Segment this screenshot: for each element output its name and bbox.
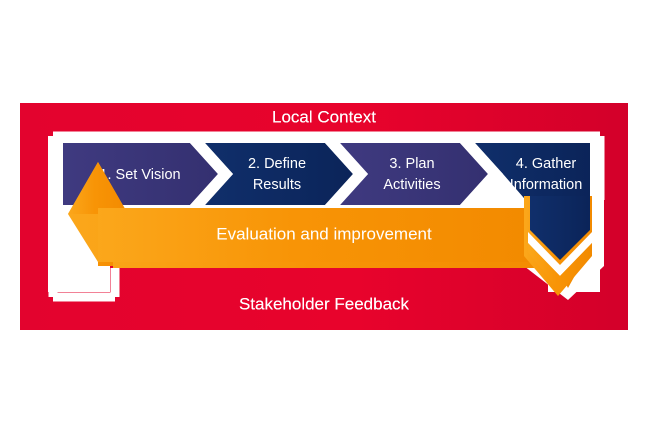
stakeholder-feedback-title-bottom: Stakeholder Feedback (239, 294, 410, 313)
stage-4-label-line1: 4. Gather (516, 156, 577, 172)
stage-4-label-line2: Information (510, 177, 583, 193)
stage-3-label-line1: 3. Plan (389, 156, 434, 172)
local-context-title-top: Local Context (272, 107, 376, 126)
diagram-canvas: Local Context Stakeholder Feedback 1. Se… (0, 0, 648, 432)
stage-3-label-line2: Activities (383, 177, 440, 193)
stage-2-label-line2: Results (253, 177, 301, 193)
cycle-diagram: Local Context Stakeholder Feedback 1. Se… (0, 0, 648, 432)
evaluation-loop-label: Evaluation and improvement (216, 224, 432, 243)
stage-1-label: 1. Set Vision (99, 167, 180, 183)
stage-2-label-line1: 2. Define (248, 156, 306, 172)
